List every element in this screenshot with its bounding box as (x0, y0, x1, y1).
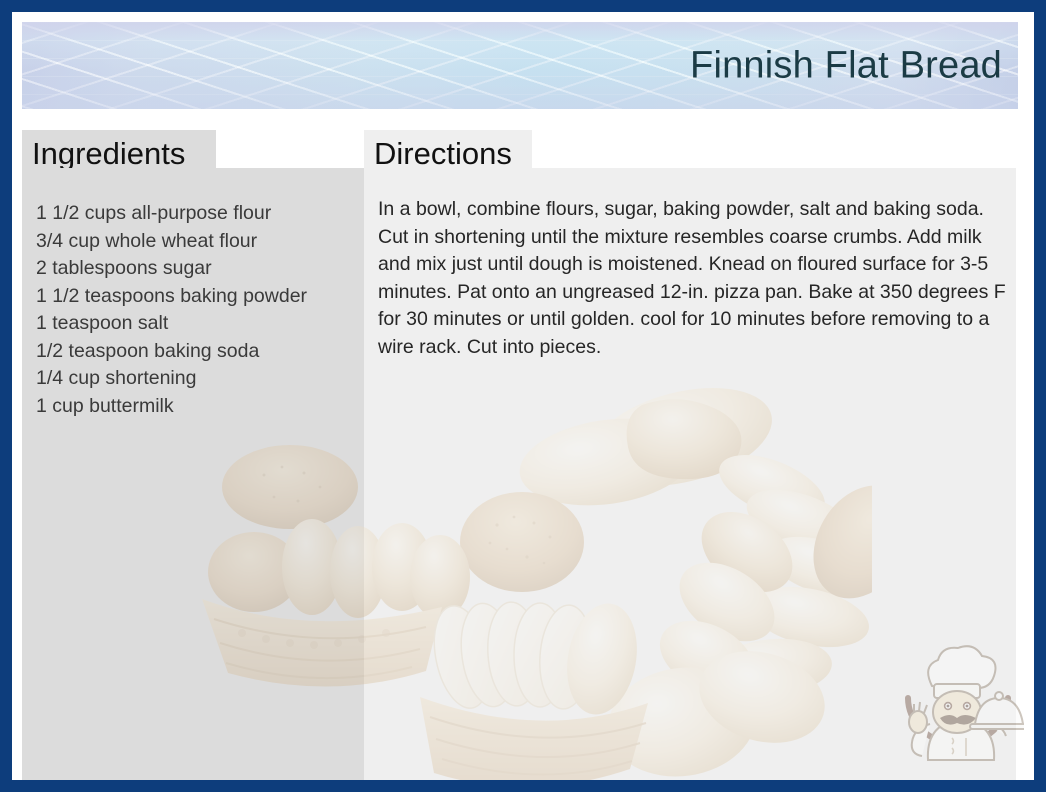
tab-directions[interactable]: Directions (364, 130, 532, 170)
tab-ingredients[interactable]: Ingredients (22, 130, 216, 170)
title-banner: Finnish Flat Bread (22, 22, 1018, 109)
ingredients-list: 1 1/2 cups all-purpose flour 3/4 cup who… (36, 200, 360, 420)
recipe-slide: Finnish Flat Bread Ingredients 1 1/2 cup… (0, 0, 1046, 792)
directions-text: In a bowl, combine flours, sugar, baking… (378, 196, 1006, 361)
list-item: 1/4 cup shortening (36, 365, 360, 393)
list-item: 1 cup buttermilk (36, 393, 360, 421)
list-item: 1 1/2 teaspoons baking powder (36, 283, 360, 311)
tab-ingredients-label: Ingredients (32, 136, 185, 171)
tab-directions-label: Directions (374, 136, 512, 171)
page-title: Finnish Flat Bread (690, 44, 1002, 87)
list-item: 1/2 teaspoon baking soda (36, 338, 360, 366)
list-item: 2 tablespoons sugar (36, 255, 360, 283)
list-item: 1 1/2 cups all-purpose flour (36, 200, 360, 228)
directions-panel: In a bowl, combine flours, sugar, baking… (364, 168, 1016, 780)
list-item: 3/4 cup whole wheat flour (36, 228, 360, 256)
list-item: 1 teaspoon salt (36, 310, 360, 338)
ingredients-panel: 1 1/2 cups all-purpose flour 3/4 cup who… (22, 168, 368, 780)
